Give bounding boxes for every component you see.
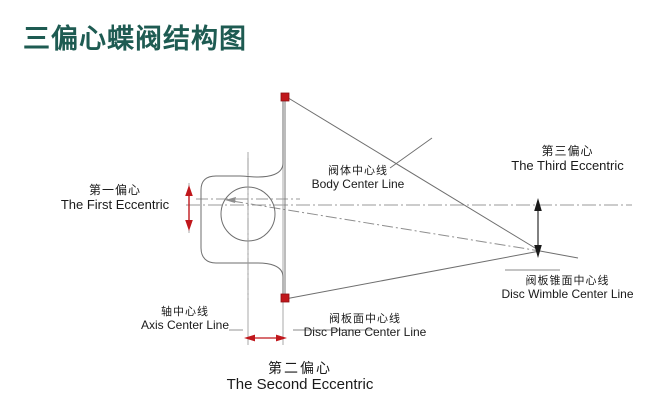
label-second-eccentric: 第二偏心 The Second Eccentric [195,360,405,393]
label-disc-wimble-center-line-en: Disc Wimble Center Line [495,288,640,302]
diagram-page: 三偏心蝶阀结构图 [0,0,651,420]
body-center-line-leader [390,138,432,168]
label-axis-center-line: 轴中心线 Axis Center Line [130,306,240,332]
label-disc-plane-center-line: 阀板面中心线 Disc Plane Center Line [295,313,435,339]
label-body-center-line-cn: 阀体中心线 [303,165,413,178]
label-disc-wimble-center-line-cn: 阀板锥面中心线 [495,275,640,288]
square-marker-red-top [281,93,289,101]
label-axis-center-line-cn: 轴中心线 [130,306,240,319]
valve-body-outline [201,95,283,300]
label-body-center-line-en: Body Center Line [303,178,413,192]
label-first-eccentric-cn: 第一偏心 [40,184,190,198]
third-eccentric-dimension [534,198,542,258]
disc-cone-apex-tail [540,251,578,258]
label-first-eccentric: 第一偏心 The First Eccentric [40,184,190,213]
label-disc-wimble-center-line: 阀板锥面中心线 Disc Wimble Center Line [495,275,640,301]
label-axis-center-line-en: Axis Center Line [130,319,240,333]
second-eccentric-dimension [244,335,287,342]
square-marker-red-bottom [281,294,289,302]
label-third-eccentric-en: The Third Eccentric [495,159,640,174]
label-body-center-line: 阀体中心线 Body Center Line [303,165,413,191]
label-first-eccentric-en: The First Eccentric [40,198,190,213]
label-disc-plane-center-line-en: Disc Plane Center Line [295,326,435,340]
label-third-eccentric: 第三偏心 The Third Eccentric [495,145,640,174]
label-second-eccentric-cn: 第二偏心 [195,360,405,376]
disc-wimble-center-line [232,201,540,251]
label-disc-plane-center-line-cn: 阀板面中心线 [295,313,435,326]
label-second-eccentric-en: The Second Eccentric [195,376,405,393]
label-third-eccentric-cn: 第三偏心 [495,145,640,159]
